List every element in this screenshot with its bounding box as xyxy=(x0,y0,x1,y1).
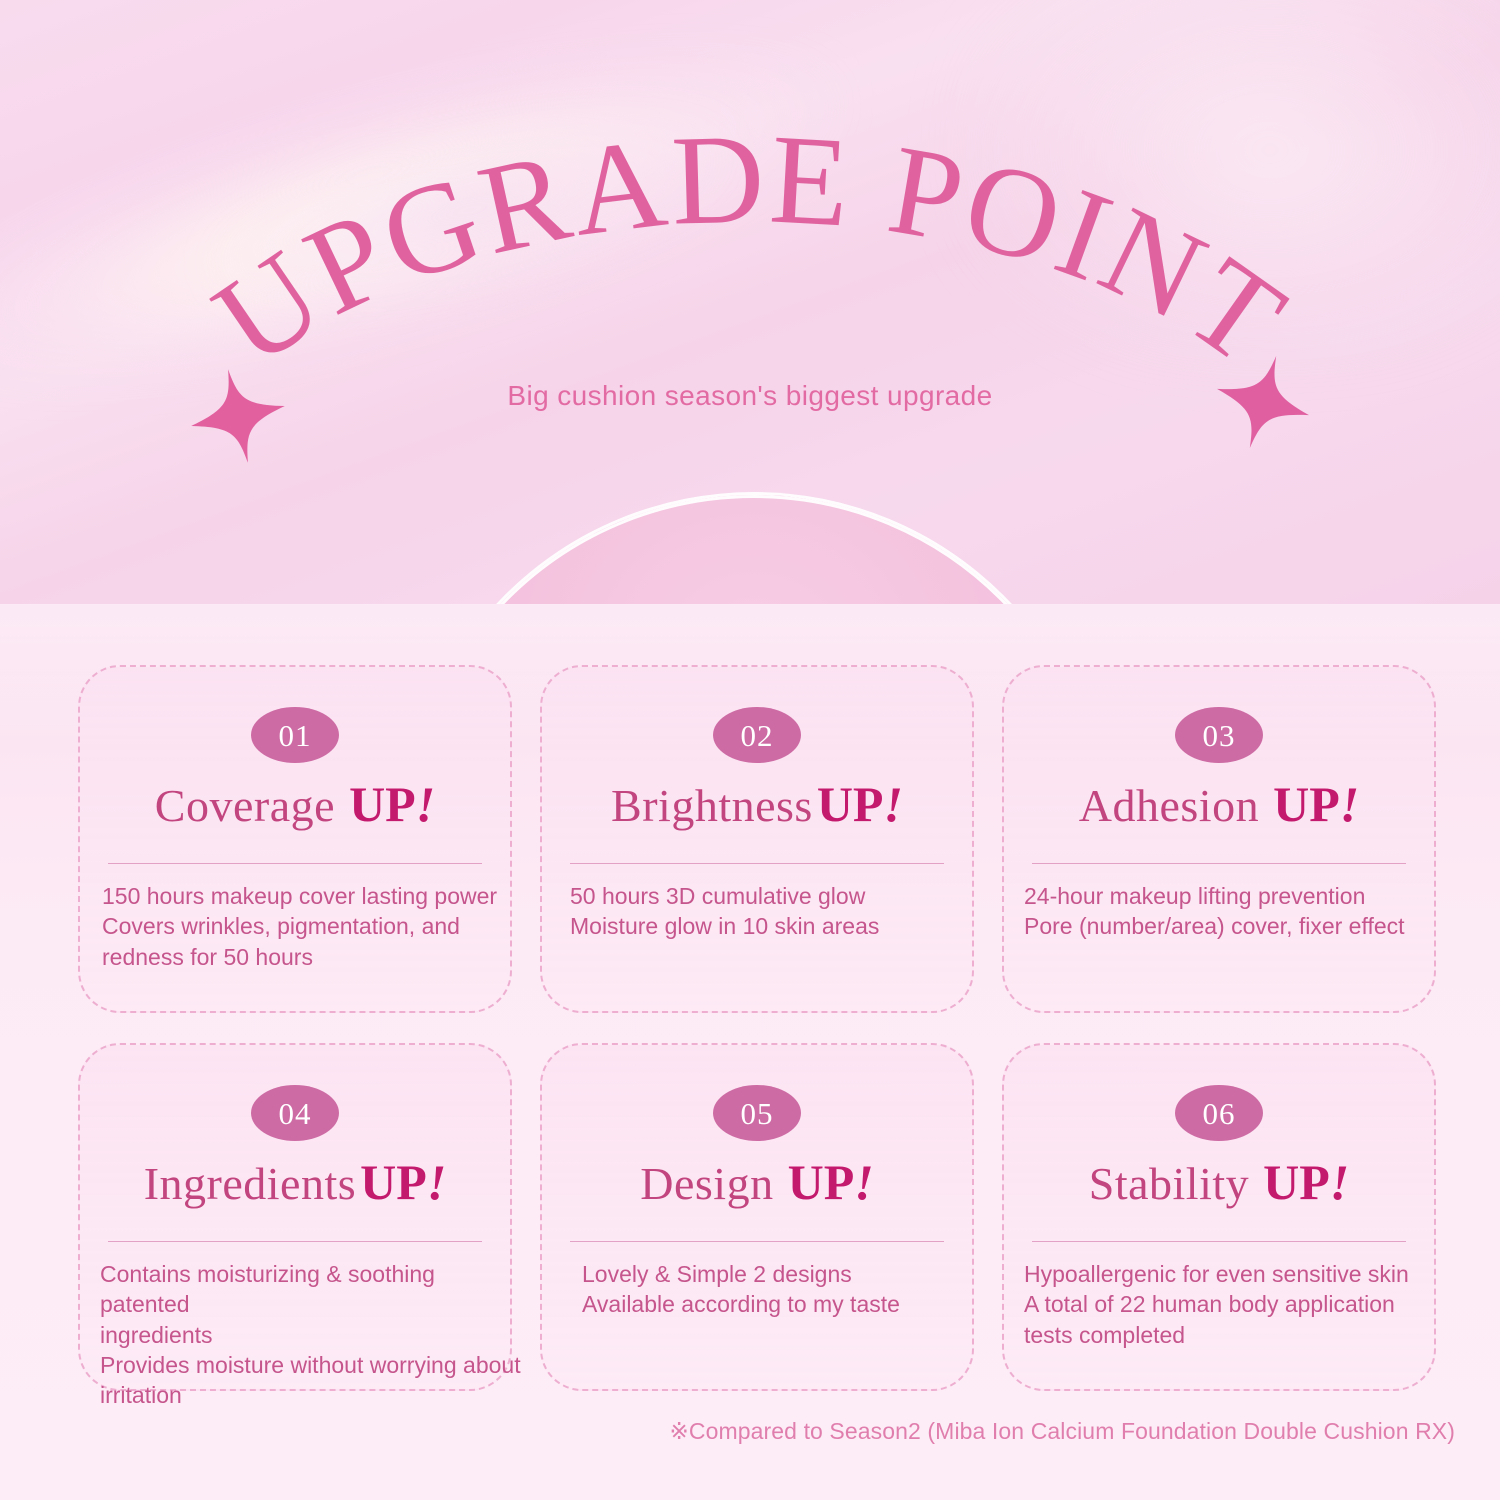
card-heading-01: CoverageUP! xyxy=(80,779,510,829)
card-divider xyxy=(570,863,944,864)
up-text: UP xyxy=(360,1154,427,1210)
upgrade-point-poster: UPGRADE POINT Big cushion season's bigge… xyxy=(0,0,1500,1500)
card-number-badge: 01 xyxy=(251,707,339,763)
card-body-04: Contains moisturizing & soothing patente… xyxy=(100,1259,524,1411)
card-heading-word: Brightness xyxy=(611,780,813,831)
card-divider xyxy=(1032,863,1406,864)
card-heading-word: Ingredients xyxy=(144,1158,356,1209)
up-text: UP xyxy=(1273,776,1340,832)
card-number-badge: 02 xyxy=(713,707,801,763)
up-exclamation: ! xyxy=(1340,776,1359,832)
card-body-05: Lovely & Simple 2 designs Available acco… xyxy=(582,1259,962,1320)
card-heading-up: UP! xyxy=(349,776,435,832)
card-heading-up: UP! xyxy=(1273,776,1359,832)
card-heading-word: Design xyxy=(640,1158,773,1209)
card-number-badge: 04 xyxy=(251,1085,339,1141)
card-heading-02: BrightnessUP! xyxy=(542,779,972,829)
card-body-02: 50 hours 3D cumulative glow Moisture glo… xyxy=(570,881,962,942)
up-text: UP xyxy=(817,776,884,832)
sparkle-star-icon-right xyxy=(1211,350,1315,454)
card-heading-up: UP! xyxy=(817,776,903,832)
card-heading-04: IngredientsUP! xyxy=(80,1157,510,1207)
dome-white-outline xyxy=(404,495,1104,620)
card-divider xyxy=(108,863,482,864)
up-exclamation: ! xyxy=(416,776,435,832)
upgrade-card-02: 02 BrightnessUP! 50 hours 3D cumulative … xyxy=(540,665,974,1013)
card-heading-up: UP! xyxy=(360,1154,446,1210)
card-body-03: 24-hour makeup lifting prevention Pore (… xyxy=(1024,881,1448,942)
upgrade-card-04: 04 IngredientsUP! Contains moisturizing … xyxy=(78,1043,512,1391)
up-exclamation: ! xyxy=(427,1154,446,1210)
card-number-badge: 03 xyxy=(1175,707,1263,763)
card-number-badge: 05 xyxy=(713,1085,801,1141)
card-divider xyxy=(570,1241,944,1242)
up-exclamation: ! xyxy=(854,1154,873,1210)
up-exclamation: ! xyxy=(1330,1154,1349,1210)
card-heading-up: UP! xyxy=(788,1154,874,1210)
up-text: UP xyxy=(788,1154,855,1210)
card-number-badge: 06 xyxy=(1175,1085,1263,1141)
up-text: UP xyxy=(349,776,416,832)
upgrade-card-06: 06 StabilityUP! Hypoallergenic for even … xyxy=(1002,1043,1436,1391)
card-body-01: 150 hours makeup cover lasting power Cov… xyxy=(102,881,500,972)
upgrade-card-05: 05 DesignUP! Lovely & Simple 2 designs A… xyxy=(540,1043,974,1391)
card-heading-03: AdhesionUP! xyxy=(1004,779,1434,829)
upgrade-points-grid: 01 CoverageUP! 150 hours makeup cover la… xyxy=(78,665,1440,1391)
card-heading-word: Adhesion xyxy=(1079,780,1259,831)
sparkle-star-icon-left xyxy=(186,364,290,468)
card-divider xyxy=(108,1241,482,1242)
comparison-footnote: ※Compared to Season2 (Miba Ion Calcium F… xyxy=(0,1418,1455,1445)
card-heading-up: UP! xyxy=(1263,1154,1349,1210)
card-heading-05: DesignUP! xyxy=(542,1157,972,1207)
card-divider xyxy=(1032,1241,1406,1242)
card-body-06: Hypoallergenic for even sensitive skin A… xyxy=(1024,1259,1448,1350)
up-text: UP xyxy=(1263,1154,1330,1210)
upgrade-card-01: 01 CoverageUP! 150 hours makeup cover la… xyxy=(78,665,512,1013)
card-heading-06: StabilityUP! xyxy=(1004,1157,1434,1207)
up-exclamation: ! xyxy=(883,776,902,832)
upgrade-card-03: 03 AdhesionUP! 24-hour makeup lifting pr… xyxy=(1002,665,1436,1013)
card-heading-word: Stability xyxy=(1089,1158,1249,1209)
card-heading-word: Coverage xyxy=(155,780,335,831)
